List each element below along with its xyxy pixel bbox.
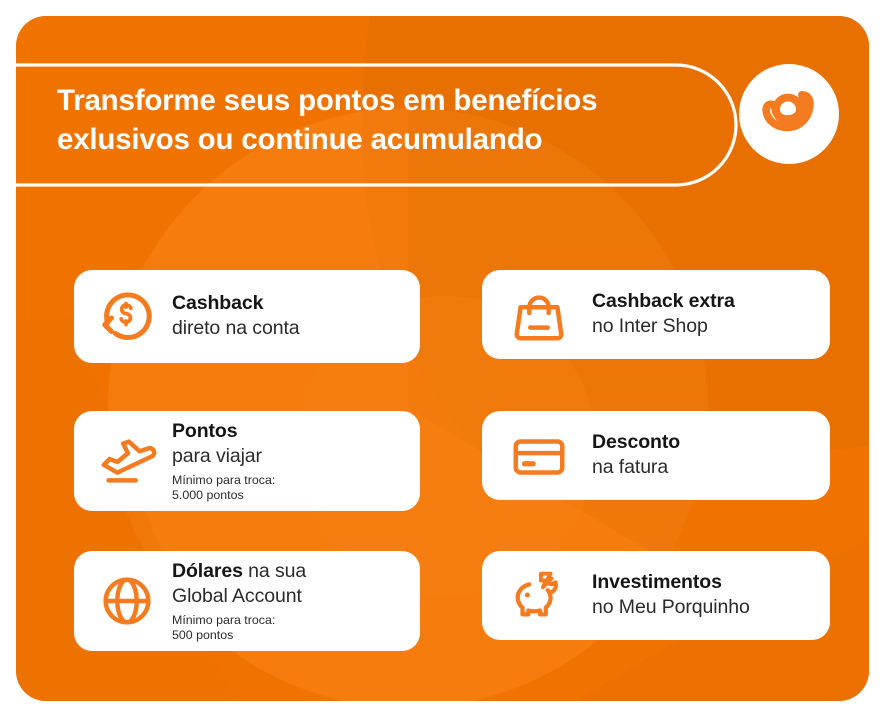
benefit-subtitle: direto na conta xyxy=(172,316,410,341)
benefit-title: Dólares na sua xyxy=(172,560,306,582)
benefits-grid: Cashback direto na conta Cashback extra … xyxy=(74,254,820,654)
page-title: Transforme seus pontos em benefícios exl… xyxy=(57,81,727,159)
benefit-card-text: Dólares na sua Global Account Mínimo par… xyxy=(172,559,410,643)
promo-banner: Transforme seus pontos em benefícios exl… xyxy=(16,16,869,701)
headline-block: Transforme seus pontos em benefícios exl… xyxy=(16,63,738,187)
benefit-subtitle: no Inter Shop xyxy=(592,314,820,339)
globe-icon xyxy=(96,570,158,632)
benefit-card-text: Pontos para viajar Mínimo para troca: 5.… xyxy=(172,419,410,503)
benefit-card-text: Desconto na fatura xyxy=(592,430,820,480)
benefit-subtitle: na fatura xyxy=(592,455,820,480)
headline-line-2: exlusivos ou continue acumulando xyxy=(57,120,727,159)
piggy-bank-icon xyxy=(508,565,570,627)
benefit-card-investimentos[interactable]: Investimentos no Meu Porquinho xyxy=(482,551,830,640)
headline-line-1: Transforme seus pontos em benefícios xyxy=(57,84,597,117)
cashback-arrow-dollar-icon xyxy=(96,286,158,348)
brand-logo-badge xyxy=(739,64,839,164)
benefit-title: Pontos xyxy=(172,420,237,442)
benefit-card-text: Cashback extra no Inter Shop xyxy=(592,289,820,339)
benefit-card-cashback-extra[interactable]: Cashback extra no Inter Shop xyxy=(482,270,830,359)
benefit-card-text: Investimentos no Meu Porquinho xyxy=(592,570,820,620)
benefit-subtitle: Global Account xyxy=(172,584,410,609)
benefit-note: Mínimo para troca: 500 pontos xyxy=(172,613,410,643)
benefit-title: Investimentos xyxy=(592,571,722,593)
benefit-title-bold: Dólares xyxy=(172,560,243,582)
benefit-card-cashback[interactable]: Cashback direto na conta xyxy=(74,270,420,363)
benefit-card-desconto[interactable]: Desconto na fatura xyxy=(482,411,830,500)
shopping-bag-icon xyxy=(508,284,570,346)
credit-card-icon xyxy=(508,425,570,487)
benefit-title: Desconto xyxy=(592,431,680,453)
benefit-title: Cashback extra xyxy=(592,290,735,312)
benefit-note: Mínimo para troca: 5.000 pontos xyxy=(172,473,410,503)
airplane-takeoff-icon xyxy=(96,430,158,492)
benefit-title: Cashback xyxy=(172,292,263,314)
benefit-card-pontos[interactable]: Pontos para viajar Mínimo para troca: 5.… xyxy=(74,411,420,511)
benefit-card-dolares[interactable]: Dólares na sua Global Account Mínimo par… xyxy=(74,551,420,651)
benefit-card-text: Cashback direto na conta xyxy=(172,291,410,341)
benefit-subtitle: para viajar xyxy=(172,444,410,469)
benefit-subtitle: no Meu Porquinho xyxy=(592,595,820,620)
inter-loop-logo-icon xyxy=(756,81,822,147)
benefit-title-regular: na sua xyxy=(243,560,306,582)
